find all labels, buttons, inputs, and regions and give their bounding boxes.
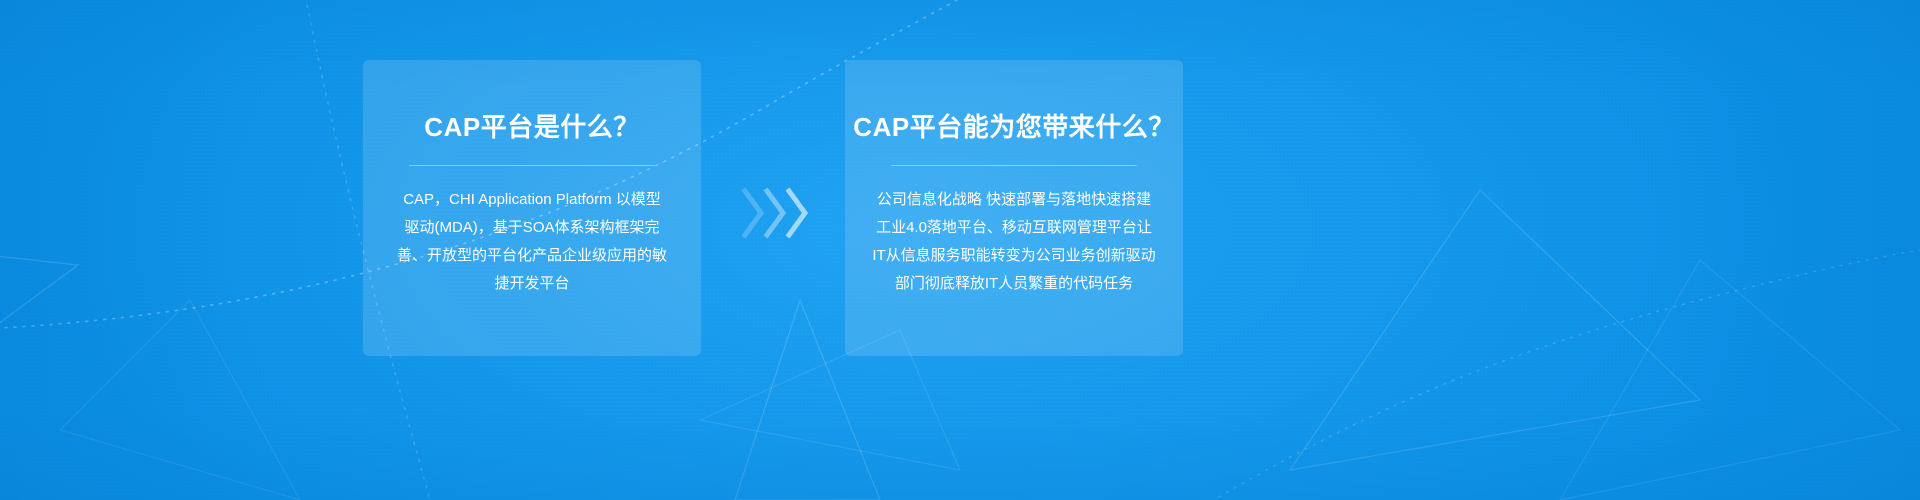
card-body-line: 工业4.0落地平台、移动互联网管理平台让 [871,214,1157,242]
card-body-line: 捷开发平台 [389,270,675,298]
chevron-connector [740,185,840,241]
promo-banner: CAP平台是什么？ CAP，CHI Application Platform 以… [0,0,1920,500]
card-body-line: 部门彻底释放IT人员繁重的代码任务 [871,270,1157,298]
chevron-right-icon [784,185,810,241]
card-divider [892,165,1137,166]
card-body-line: CAP，CHI Application Platform 以模型 [389,186,675,214]
card-body-line: IT从信息服务职能转变为公司业务创新驱动 [871,242,1157,270]
card-title: CAP平台是什么？ [363,112,701,143]
card-title: CAP平台能为您带来什么？ [845,112,1183,143]
card-body-line: 驱动(MDA)，基于SOA体系架构框架完 [389,214,675,242]
card-body: 公司信息化战略 快速部署与落地快速搭建 工业4.0落地平台、移动互联网管理平台让… [845,186,1183,298]
card-body: CAP，CHI Application Platform 以模型 驱动(MDA)… [363,186,701,298]
card-divider [410,165,655,166]
card-body-line: 公司信息化战略 快速部署与落地快速搭建 [871,186,1157,214]
card-body-line: 善、开放型的平台化产品企业级应用的敏 [389,242,675,270]
info-card-what-is-cap: CAP平台是什么？ CAP，CHI Application Platform 以… [363,60,701,356]
info-card-cap-benefits: CAP平台能为您带来什么？ 公司信息化战略 快速部署与落地快速搭建 工业4.0落… [845,60,1183,356]
